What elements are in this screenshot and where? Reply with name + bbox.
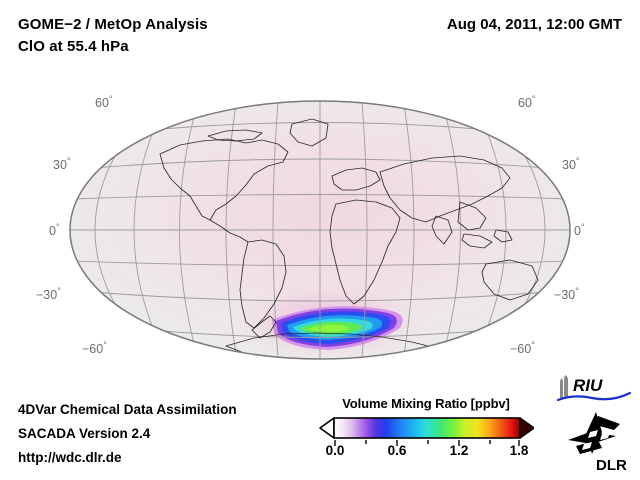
lat-label-right-60: 60° — [518, 96, 536, 110]
colorbar-svg — [318, 416, 534, 440]
colorbar-ticklabels: 0.0 0.6 1.2 1.8 — [318, 443, 534, 463]
colorbar-tick-0: 0.0 — [326, 443, 345, 458]
footer-line-method: 4DVar Chemical Data Assimilation — [18, 398, 318, 422]
footer-text-block: 4DVar Chemical Data Assimilation SACADA … — [18, 398, 318, 470]
lat-label-left-0: 0° — [49, 224, 60, 238]
lat-label-right-0: 0° — [574, 224, 585, 238]
colorbar-under-arrow — [320, 418, 334, 438]
riu-logo-svg: RIU — [556, 372, 634, 406]
colorbar-ticks — [318, 440, 534, 446]
dlr-logo: DLR — [562, 410, 634, 474]
lat-label-right-30: 30° — [562, 158, 580, 172]
lat-label-right-minus30: −30° — [554, 288, 579, 302]
lat-label-left-minus30: −30° — [36, 288, 61, 302]
colorbar-gradient-bar — [334, 418, 520, 438]
lat-label-left-30: 30° — [53, 158, 71, 172]
header-title-block: GOME−2 / MetOp Analysis ClO at 55.4 hPa — [18, 14, 378, 58]
page-subtitle: ClO at 55.4 hPa — [18, 36, 378, 58]
dlr-wordmark: DLR — [596, 457, 627, 474]
colorbar-graphic — [318, 416, 534, 440]
colorbar-title: Volume Mixing Ratio [ppbv] — [318, 396, 534, 412]
riu-wordmark: RIU — [573, 376, 603, 395]
world-map-panel: 60° 30° 0° −30° −60° 60° 30° 0° −30° −60… — [40, 84, 600, 376]
colorbar-tick-3: 1.8 — [510, 443, 529, 458]
footer-line-version: SACADA Version 2.4 — [18, 422, 318, 446]
colorbar-tick-2: 1.2 — [450, 443, 469, 458]
footer-line-url[interactable]: http://wdc.dlr.de — [18, 446, 318, 470]
lat-label-right-minus60: −60° — [510, 342, 535, 356]
colorbar-over-arrow — [520, 418, 534, 438]
page-title: GOME−2 / MetOp Analysis — [18, 14, 378, 36]
dlr-logo-svg: DLR — [562, 410, 634, 474]
lat-label-left-60: 60° — [95, 96, 113, 110]
lat-label-left-minus60: −60° — [82, 342, 107, 356]
world-map-svg — [40, 84, 600, 376]
riu-logo: RIU — [556, 372, 634, 406]
header-timestamp: Aug 04, 2011, 12:00 GMT — [447, 14, 622, 36]
colorbar-tick-1: 0.6 — [388, 443, 407, 458]
riu-tower-icon — [560, 375, 568, 398]
colorbar-panel: Volume Mixing Ratio [ppbv] — [318, 396, 534, 472]
